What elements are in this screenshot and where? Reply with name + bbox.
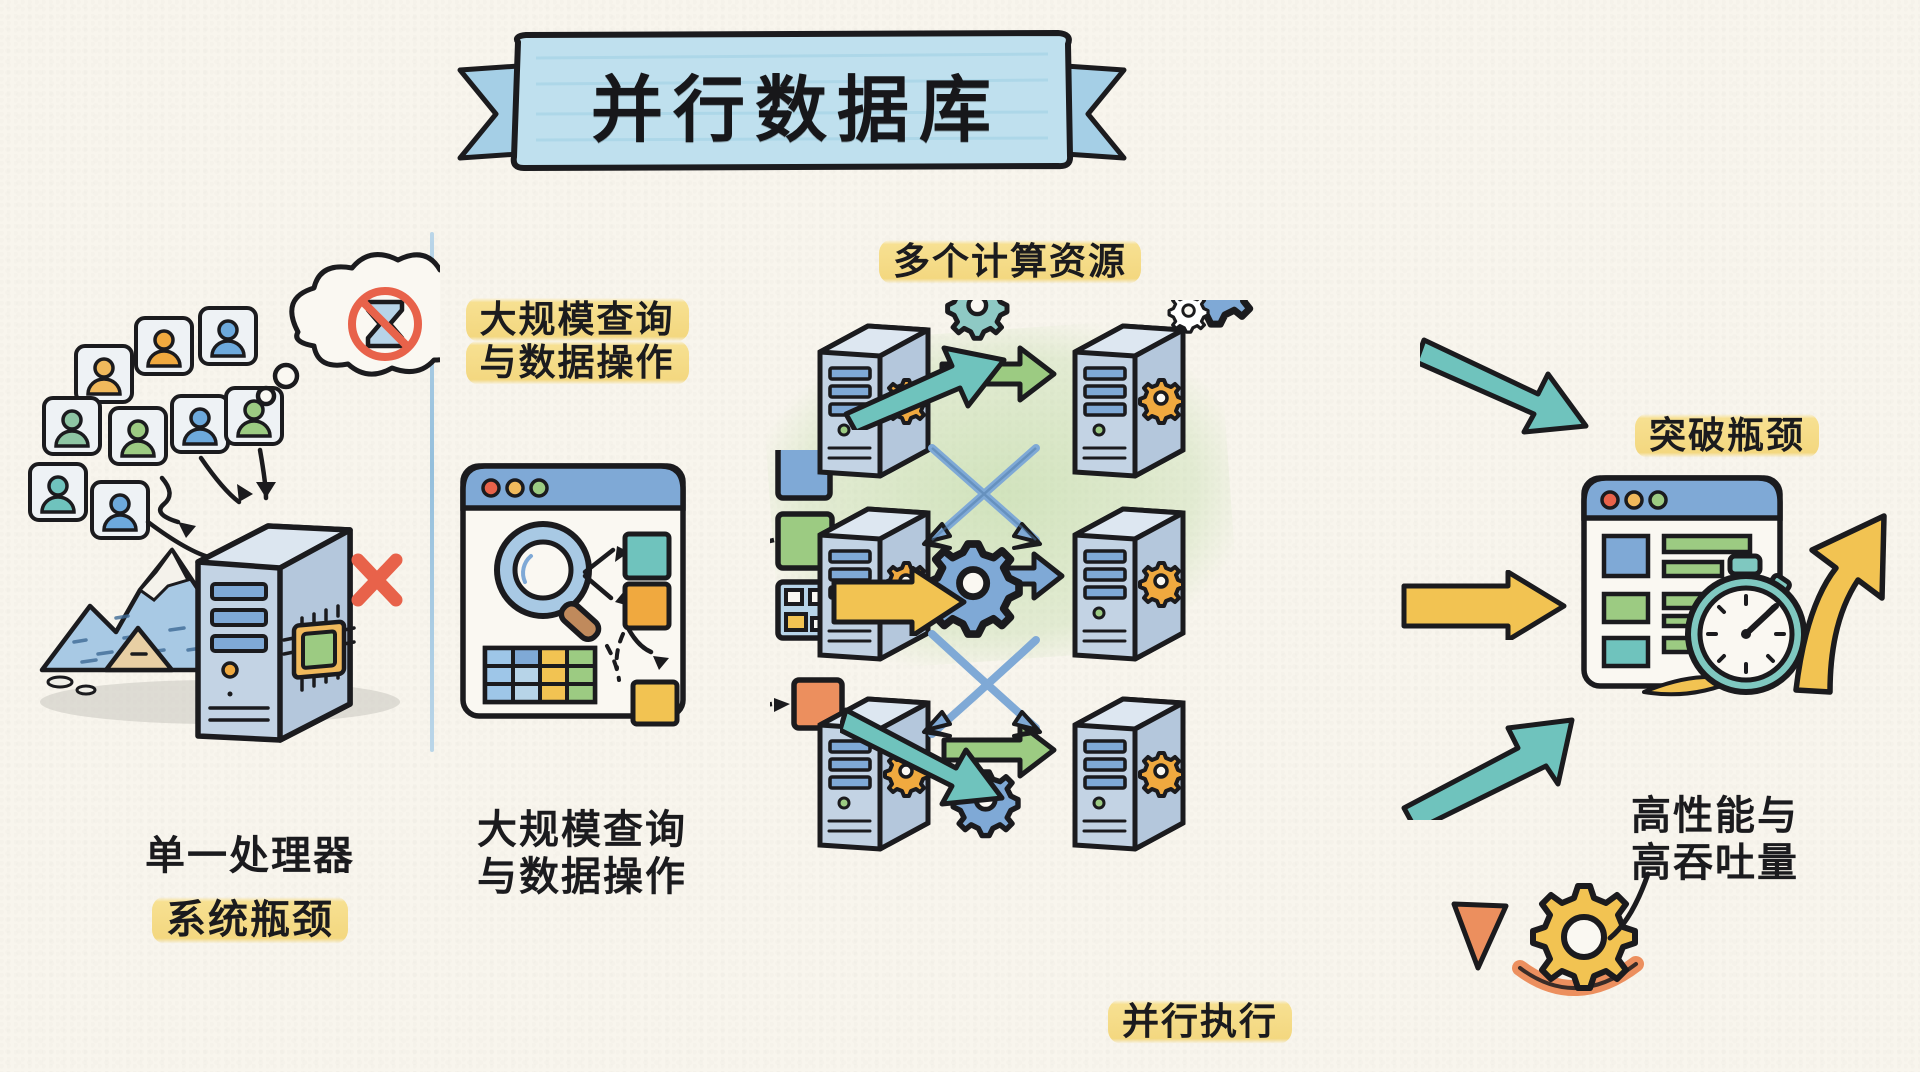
gear-white-small-icon [1169,300,1208,332]
label-parallel-execution: 并行执行 [1090,956,1310,1043]
arrow-out-row-1 [1420,330,1610,460]
results-dashboard-scene [1580,460,1920,750]
task-block-amber [633,682,677,724]
label-breakthrough-bottleneck: 突破瓶颈 [1612,370,1842,457]
red-cross-icon [358,560,396,600]
server-node-icon [1075,509,1183,659]
arrow-out-row-2 [1400,570,1580,640]
arrow-to-row-3 [840,700,1020,810]
single-processor-scene [20,250,440,750]
label-multiple-compute-resources: 多个计算资源 [860,196,1160,283]
growth-arrow-icon [1796,516,1884,692]
gear-teal-icon [948,300,1007,338]
thought-bubble [258,255,440,404]
user-avatar-group [30,308,282,538]
gear-recycle-scene [1440,860,1740,1050]
arrow-to-row-2 [830,566,980,636]
arrow-out-row-3 [1400,690,1590,820]
task-block-orange [625,584,669,628]
label-large-scale-query-top: 大规模查询 与数据操作 [452,254,702,385]
server-node-icon [1075,699,1183,849]
title-banner: 并行数据库 [452,28,1132,178]
task-block-teal [625,534,669,578]
label-large-scale-query-bottom: 大规模查询 与数据操作 [452,760,712,902]
arrow-to-row-1 [840,340,1020,430]
page-title: 并行数据库 [452,28,1132,178]
server-node-icon [1075,326,1183,476]
left-caption-sub: 系统瓶颈 [110,850,390,944]
data-table-icon [485,648,595,702]
gear-recycle-icon [1533,886,1635,988]
infographic-stage: 并行数据库 [0,0,1920,1072]
server-cluster-scene [680,300,1420,920]
